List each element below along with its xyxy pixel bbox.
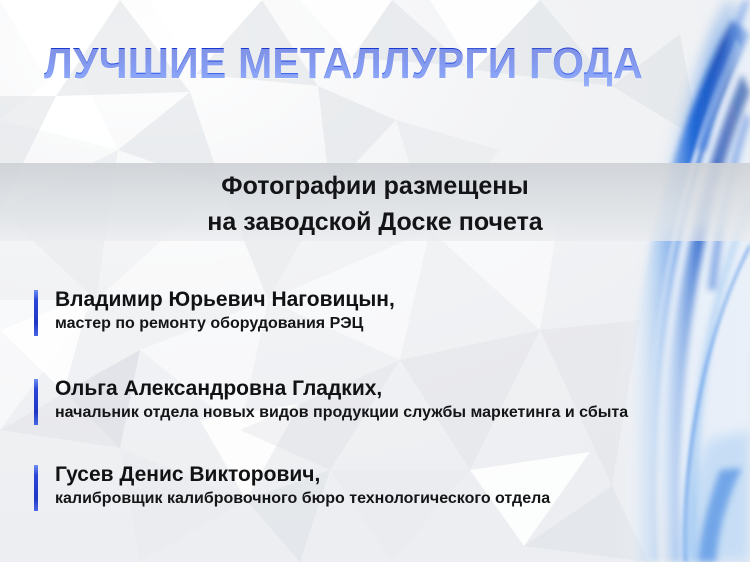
accent-bar	[34, 379, 38, 425]
honoree-name: Гусев Денис Викторович,	[55, 461, 740, 488]
honoree-entry: Гусев Денис Викторович, калибровщик кали…	[34, 461, 740, 510]
slide-canvas: ЛУЧШИЕ МЕТАЛЛУРГИ ГОДА Фотографии размещ…	[0, 0, 750, 562]
accent-bar	[34, 465, 38, 511]
honoree-entry: Владимир Юрьевич Наговицын, мастер по ре…	[34, 286, 740, 335]
honoree-role: мастер по ремонту оборудования РЭЦ	[55, 313, 740, 335]
honoree-text: Владимир Юрьевич Наговицын, мастер по ре…	[55, 286, 740, 335]
subtitle-line-2: на заводской Доске почета	[0, 204, 750, 240]
honoree-role: начальник отдела новых видов продукции с…	[55, 402, 740, 424]
honoree-name: Ольга Александровна Гладких,	[55, 375, 740, 402]
accent-bar	[34, 290, 38, 336]
honoree-text: Ольга Александровна Гладких, начальник о…	[55, 375, 740, 424]
honoree-entry: Ольга Александровна Гладких, начальник о…	[34, 375, 740, 424]
subtitle: Фотографии размещены на заводской Доске …	[0, 168, 750, 240]
honoree-role: калибровщик калибровочного бюро технолог…	[55, 488, 740, 510]
honoree-name: Владимир Юрьевич Наговицын,	[55, 286, 740, 313]
page-title: ЛУЧШИЕ МЕТАЛЛУРГИ ГОДА	[44, 38, 643, 90]
subtitle-line-1: Фотографии размещены	[0, 168, 750, 204]
honoree-text: Гусев Денис Викторович, калибровщик кали…	[55, 461, 740, 510]
